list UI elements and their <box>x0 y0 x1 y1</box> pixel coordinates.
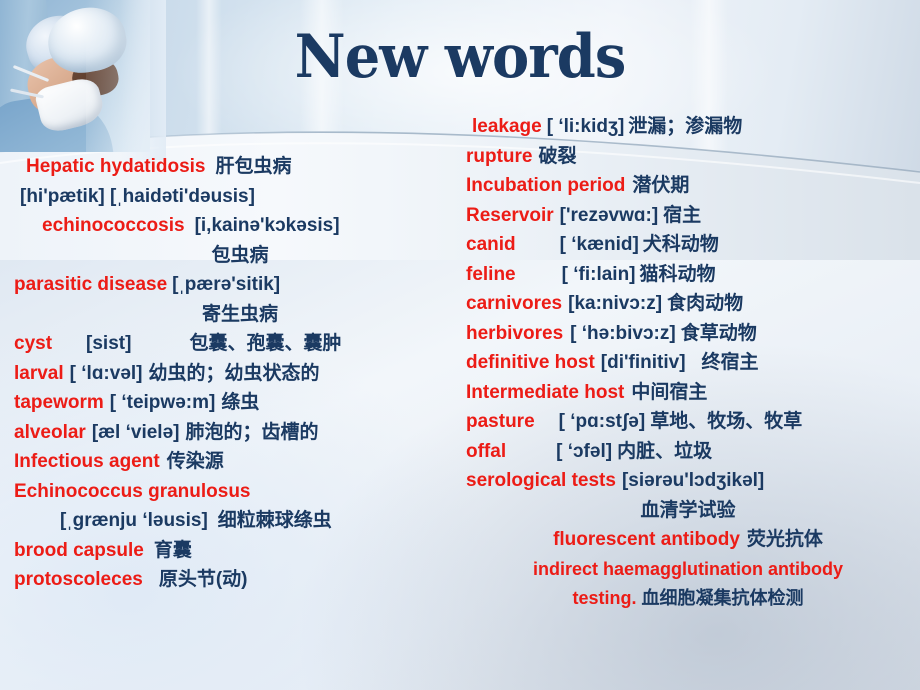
translation-text: 食草动物 <box>681 323 757 344</box>
term-text: rupture <box>466 146 533 167</box>
term-text: testing. <box>572 588 636 608</box>
translation-text: 破裂 <box>539 146 577 167</box>
term-text: definitive host <box>466 352 595 373</box>
word-entry: brood capsule育囊 <box>14 536 466 566</box>
word-entry: Reservoir['rezəvwɑ:]宿主 <box>460 201 916 231</box>
translation-text: 血清学试验 <box>640 500 735 521</box>
word-entry: canid[ ‘kænid]犬科动物 <box>460 230 916 260</box>
translation-text: 草地、牧场、牧草 <box>650 411 802 432</box>
term-text: Intermediate host <box>466 382 624 403</box>
term-text: echinococcosis <box>42 215 185 236</box>
translation-text: 传染源 <box>167 451 224 472</box>
page-title: New words <box>32 22 888 92</box>
word-entry: cyst[sist]包囊、孢囊、囊肿 <box>14 329 466 359</box>
phonetic-text: [siərəu'lɔdʒikəl] <box>622 470 764 491</box>
phonetic-text: [æl ‘vielə] <box>92 422 180 443</box>
phonetic-text: [ ‘pɑ:stʃə] <box>559 411 646 432</box>
left-word-column: Hepatic hydatidosis肝包虫病 [hi'pætik] [ˌhai… <box>14 152 466 595</box>
translation-text: 中间宿主 <box>631 382 707 403</box>
phonetic-text: [di'finitiv] <box>601 352 686 373</box>
word-entry: alveolar[æl ‘vielə]肺泡的；齿槽的 <box>14 418 466 448</box>
term-text: offal <box>466 441 506 462</box>
phonetic-text: [hi'pætik] [ˌhaidəti'dəusis] <box>20 186 255 207</box>
translation-text: 潜伏期 <box>632 175 689 196</box>
translation-text: 猫科动物 <box>640 264 716 285</box>
translation-text: 育囊 <box>154 540 192 561</box>
word-entry: [ˌgrænju ‘ləusis]细粒棘球绦虫 <box>14 506 466 536</box>
translation-text: 内脏、垃圾 <box>617 441 712 462</box>
translation-text: 犬科动物 <box>643 234 719 255</box>
term-text: pasture <box>466 411 535 432</box>
word-entry: Echinococcus granulosus <box>14 477 466 507</box>
term-text: brood capsule <box>14 540 144 561</box>
phonetic-text: [ˌpærə'sitik] <box>172 274 280 295</box>
word-entry: Infectious agent传染源 <box>14 447 466 477</box>
term-text: parasitic disease <box>14 274 167 295</box>
phonetic-text: [ ‘teipwə:m] <box>110 392 216 413</box>
term-text: carnivores <box>466 293 562 314</box>
translation-text: 包囊、孢囊、囊肿 <box>189 333 341 354</box>
word-entry: serological tests[siərəu'lɔdʒikəl] <box>460 466 916 496</box>
phonetic-text: ['rezəvwɑ:] <box>560 205 658 226</box>
translation-text: 原头节(动) <box>159 569 248 590</box>
term-text: tapeworm <box>14 392 104 413</box>
term-text: alveolar <box>14 422 86 443</box>
translation-text: 荧光抗体 <box>747 529 823 550</box>
term-text: Infectious agent <box>14 451 160 472</box>
translation-text: 幼虫的；幼虫状态的 <box>149 363 320 384</box>
word-entry: indirect haemagglutination antibody <box>460 555 916 585</box>
word-entry: herbivores[ ‘hə:bivɔ:z]食草动物 <box>460 319 916 349</box>
term-text: Hepatic hydatidosis <box>26 156 206 177</box>
right-word-column: leakage[ ‘li:kidʒ]泄漏；渗漏物 rupture破裂 Incub… <box>460 112 916 614</box>
word-entry: leakage[ ‘li:kidʒ]泄漏；渗漏物 <box>460 112 916 142</box>
translation-text: 泄漏；渗漏物 <box>628 116 742 137</box>
word-entry: larval[ ‘lɑ:vəl]幼虫的；幼虫状态的 <box>14 359 466 389</box>
term-text: fluorescent antibody <box>553 529 740 550</box>
word-entry: carnivores[ka:nivɔ:z]食肉动物 <box>460 289 916 319</box>
translation-text: 寄生虫病 <box>202 304 278 325</box>
phonetic-text: [ˌgrænju ‘ləusis] <box>60 510 208 531</box>
phonetic-text: [ ‘fi:lain] <box>562 264 636 285</box>
phonetic-text: [ ‘ɔfəl] <box>556 441 612 462</box>
translation-text: 终宿主 <box>702 352 759 373</box>
word-entry: rupture破裂 <box>460 142 916 172</box>
phonetic-text: [sist] <box>86 333 131 354</box>
word-entry: echinococcosis[i,kainə'kɔkəsis] <box>14 211 466 241</box>
translation-text: 血细胞凝集抗体检测 <box>642 588 804 608</box>
translation-text: 绦虫 <box>221 392 259 413</box>
word-entry: Hepatic hydatidosis肝包虫病 <box>14 152 466 182</box>
translation-text: 包虫病 <box>211 245 268 266</box>
term-text: canid <box>466 234 516 255</box>
word-entry: 血清学试验 <box>460 496 916 526</box>
word-entry: pasture[ ‘pɑ:stʃə]草地、牧场、牧草 <box>460 407 916 437</box>
term-text: feline <box>466 264 516 285</box>
word-entry: protoscoleces原头节(动) <box>14 565 466 595</box>
word-entry: parasitic disease[ˌpærə'sitik] <box>14 270 466 300</box>
term-text: cyst <box>14 333 52 354</box>
translation-text: 肝包虫病 <box>216 156 292 177</box>
phonetic-text: [ ‘kænid] <box>560 234 639 255</box>
term-text: Incubation period <box>466 175 625 196</box>
term-text: protoscoleces <box>14 569 143 590</box>
word-entry: Incubation period潜伏期 <box>460 171 916 201</box>
term-text: serological tests <box>466 470 616 491</box>
phonetic-text: [ ‘hə:bivɔ:z] <box>570 323 676 344</box>
term-text: herbivores <box>466 323 563 344</box>
word-entry: tapeworm[ ‘teipwə:m]绦虫 <box>14 388 466 418</box>
translation-text: 宿主 <box>663 205 701 226</box>
term-text: Reservoir <box>466 205 554 226</box>
term-text: larval <box>14 363 64 384</box>
phonetic-text: [ ‘li:kidʒ] <box>547 116 625 137</box>
term-text: indirect haemagglutination antibody <box>533 559 843 579</box>
term-text: Echinococcus granulosus <box>14 481 251 502</box>
word-entry: 包虫病 <box>14 241 466 271</box>
slide-canvas: New words Hepatic hydatidosis肝包虫病 [hi'pæ… <box>0 0 920 690</box>
word-entry: [hi'pætik] [ˌhaidəti'dəusis] <box>14 182 466 212</box>
translation-text: 细粒棘球绦虫 <box>218 510 332 531</box>
term-text: leakage <box>472 116 542 137</box>
word-entry: Intermediate host中间宿主 <box>460 378 916 408</box>
word-entry: definitive host[di'finitiv]终宿主 <box>460 348 916 378</box>
translation-text: 食肉动物 <box>667 293 743 314</box>
translation-text: 肺泡的；齿槽的 <box>185 422 318 443</box>
word-entry: offal[ ‘ɔfəl]内脏、垃圾 <box>460 437 916 467</box>
word-entry: feline[ ‘fi:lain]猫科动物 <box>460 260 916 290</box>
word-entry: testing.血细胞凝集抗体检测 <box>460 584 916 614</box>
word-entry: fluorescent antibody荧光抗体 <box>460 525 916 555</box>
word-entry: 寄生虫病 <box>14 300 466 330</box>
phonetic-text: [i,kainə'kɔkəsis] <box>195 215 340 236</box>
phonetic-text: [ka:nivɔ:z] <box>568 293 662 314</box>
phonetic-text: [ ‘lɑ:vəl] <box>70 363 143 384</box>
